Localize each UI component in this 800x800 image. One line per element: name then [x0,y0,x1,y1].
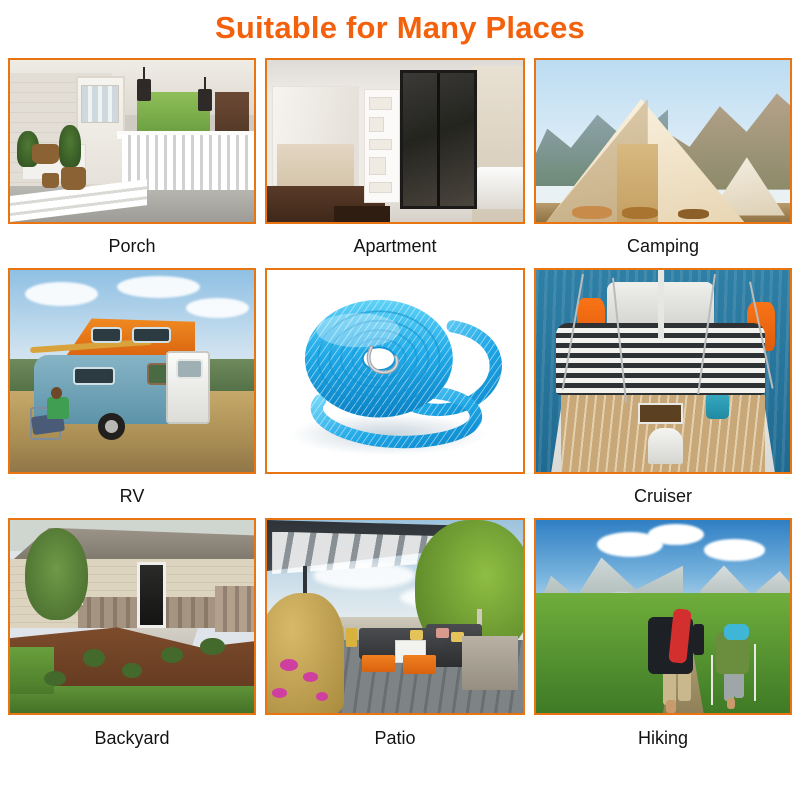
apartment-scene [267,60,523,222]
rv-photo [8,268,256,474]
product-photo [265,268,525,474]
porch-photo [8,58,256,224]
rv-scene [10,270,254,472]
caption-rv: RV [8,474,256,518]
patio-scene [267,520,523,713]
backyard-photo [8,518,256,715]
page-title: Suitable for Many Places [0,0,800,56]
page-title-text: Suitable for Many Places [215,10,585,46]
backyard-scene [10,520,254,713]
caption-cruiser: Cruiser [534,474,792,518]
caption-porch: Porch [8,224,256,268]
scene-grid: Porch [8,58,792,796]
grid-cell-cruiser: Cruiser [534,268,792,518]
caption-apartment: Apartment [265,224,525,268]
grid-cell-apartment: Apartment [265,58,525,268]
cruiser-scene [536,270,790,472]
camping-scene [536,60,790,222]
hiking-scene [536,520,790,713]
grid-cell-porch: Porch [8,58,256,268]
product-infographic: Suitable for Many Places [0,0,800,800]
product-scene [267,270,523,472]
grid-cell-rv: RV [8,268,256,518]
apartment-photo [265,58,525,224]
caption-backyard: Backyard [8,715,256,761]
grid-cell-camping: Camping [534,58,792,268]
grid-cell-backyard: Backyard [8,518,256,761]
grid-cell-product [265,268,525,518]
patio-photo [265,518,525,715]
caption-hiking: Hiking [534,715,792,761]
caption-camping: Camping [534,224,792,268]
caption-product [265,474,525,518]
camping-photo [534,58,792,224]
grid-cell-patio: Patio [265,518,525,761]
cruiser-photo [534,268,792,474]
caption-patio: Patio [265,715,525,761]
rope-coil-illustration [267,270,523,472]
hiking-photo [534,518,792,715]
grid-cell-hiking: Hiking [534,518,792,761]
porch-scene [10,60,254,222]
